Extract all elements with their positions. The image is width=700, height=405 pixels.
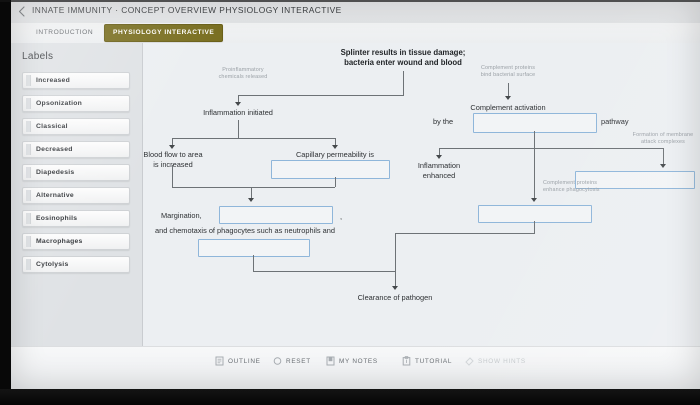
reset-icon: [273, 356, 282, 366]
outline-icon: [215, 356, 224, 366]
drag-handle-icon: [26, 121, 31, 132]
arrowhead-icon: [436, 155, 442, 159]
toolbar-label: SHOW HINTS: [478, 358, 526, 365]
label-chip-increased[interactable]: Increased: [22, 72, 130, 89]
toolbar-button-tutorial[interactable]: TUTORIAL: [402, 355, 452, 367]
connector: [534, 131, 535, 148]
arrowhead-icon: [169, 145, 175, 149]
annotation-membrane-attack: Formation of membrane attack complexes: [615, 132, 700, 146]
tab-introduction[interactable]: INTRODUCTION: [28, 25, 101, 41]
tab-bar: INTRODUCTION PHYSIOLOGY INTERACTIVE: [10, 23, 700, 44]
arrowhead-icon: [660, 164, 666, 168]
annotation-enhance-phagocytosis: Complement proteins enhance phagocytosis: [543, 180, 639, 194]
app-header: INNATE IMMUNITY · CONCEPT OVERVIEW PHYSI…: [10, 0, 700, 24]
node-inflammation-enhanced: Inflammation enhanced: [399, 161, 479, 180]
label-chip-list: Increased Opsonization Classical Decreas…: [22, 72, 130, 279]
toolbar-button-reset[interactable]: RESET: [273, 355, 311, 367]
node-inflammation-initiated: Inflammation initiated: [188, 108, 288, 118]
connector: [335, 177, 336, 187]
arrowhead-icon: [248, 198, 254, 202]
label-chip-text: Increased: [36, 75, 70, 86]
label-chip-text: Opsonization: [36, 98, 82, 109]
node-chemotaxis: and chemotaxis of phagocytes such as neu…: [155, 226, 385, 236]
drag-handle-icon: [26, 98, 31, 109]
label-chip-text: Alternative: [36, 190, 74, 201]
toolbar-button-outline[interactable]: OUTLINE: [215, 355, 261, 367]
arrowhead-icon: [531, 198, 537, 202]
labels-sidebar: Labels Increased Opsonization Classical …: [10, 43, 143, 346]
tab-physiology-interactive[interactable]: PHYSIOLOGY INTERACTIVE: [105, 25, 222, 41]
connector: [172, 187, 335, 188]
arrowhead-icon: [392, 286, 398, 290]
sidebar-title: Labels: [22, 51, 53, 62]
dropzone-complement-pathway[interactable]: [473, 113, 597, 133]
label-chip-decreased[interactable]: Decreased: [22, 141, 130, 158]
toolbar-label: TUTORIAL: [415, 358, 452, 365]
connector: [172, 138, 335, 139]
node-comma: ,: [336, 212, 346, 222]
dropzone-margination[interactable]: [219, 206, 333, 224]
annotation-bind-bacterial-surface: Complement proteins bind bacterial surfa…: [463, 65, 553, 79]
connector: [172, 165, 173, 187]
dropzone-enhance-phagocytosis[interactable]: [478, 205, 592, 223]
label-chip-opsonization[interactable]: Opsonization: [22, 95, 130, 112]
annotation-proinflammatory: Proinflammatory chemicals released: [203, 67, 283, 81]
dropzone-capillary-permeability[interactable]: [271, 160, 390, 179]
label-chip-alternative[interactable]: Alternative: [22, 187, 130, 204]
drag-handle-icon: [26, 259, 31, 270]
toolbar-button-my-notes[interactable]: MY NOTES: [326, 355, 378, 367]
drag-handle-icon: [26, 236, 31, 247]
photo-edge-top: [0, 0, 700, 2]
tutorial-icon: [402, 356, 411, 366]
label-chip-eosinophils[interactable]: Eosinophils: [22, 210, 130, 227]
label-chip-macrophages[interactable]: Macrophages: [22, 233, 130, 250]
drag-handle-icon: [26, 144, 31, 155]
connector: [534, 221, 535, 233]
photo-edge-left: [0, 0, 11, 405]
hint-icon: [465, 356, 474, 366]
label-chip-text: Classical: [36, 121, 68, 132]
label-chip-text: Macrophages: [36, 236, 83, 247]
toolbar-label: OUTLINE: [228, 358, 261, 365]
node-complement-activation: Complement activation: [443, 103, 573, 113]
photo-edge-bottom: [0, 389, 700, 405]
label-chip-text: Diapedesis: [36, 167, 74, 178]
connector: [403, 71, 404, 95]
node-blood-flow: Blood flow to area is increased: [131, 150, 215, 169]
dropzone-phagocytes[interactable]: [198, 239, 310, 257]
label-chip-classical[interactable]: Classical: [22, 118, 130, 135]
drag-handle-icon: [26, 213, 31, 224]
node-margination: Margination,: [161, 211, 219, 221]
chevron-left-icon[interactable]: [16, 5, 28, 18]
toolbar-button-show-hints: SHOW HINTS: [465, 355, 526, 367]
drag-handle-icon: [26, 75, 31, 86]
node-by-the: by the: [433, 117, 469, 127]
photographed-screen: INNATE IMMUNITY · CONCEPT OVERVIEW PHYSI…: [0, 0, 700, 405]
app-window: INNATE IMMUNITY · CONCEPT OVERVIEW PHYSI…: [10, 0, 700, 390]
label-chip-diapedesis[interactable]: Diapedesis: [22, 164, 130, 181]
label-chip-text: Eosinophils: [36, 213, 77, 224]
connector: [238, 120, 239, 138]
node-clearance: Clearance of pathogen: [340, 293, 450, 303]
node-pathway: pathway: [601, 117, 643, 127]
toolbar-label: RESET: [286, 358, 311, 365]
node-capillary-permeability: Capillary permeability is: [278, 150, 392, 160]
label-chip-cytolysis[interactable]: Cytolysis: [22, 256, 130, 273]
connector: [253, 255, 254, 271]
drag-handle-icon: [26, 167, 31, 178]
arrowhead-icon: [505, 96, 511, 100]
drag-handle-icon: [26, 190, 31, 201]
toolbar-label: MY NOTES: [339, 358, 378, 365]
label-chip-text: Cytolysis: [36, 259, 68, 270]
bottom-toolbar: OUTLINE RESET MY NOTES: [10, 346, 700, 390]
arrowhead-icon: [235, 102, 241, 106]
connector: [253, 271, 395, 272]
connector: [439, 148, 663, 149]
connector: [238, 95, 404, 96]
arrowhead-icon: [332, 145, 338, 149]
label-chip-text: Decreased: [36, 144, 73, 155]
page-title: INNATE IMMUNITY · CONCEPT OVERVIEW PHYSI…: [32, 5, 342, 15]
connector: [534, 148, 535, 200]
flowchart-canvas: Splinter results in tissue damage; bacte…: [143, 43, 700, 346]
connector: [395, 233, 396, 271]
notes-icon: [326, 356, 335, 366]
connector: [395, 233, 535, 234]
